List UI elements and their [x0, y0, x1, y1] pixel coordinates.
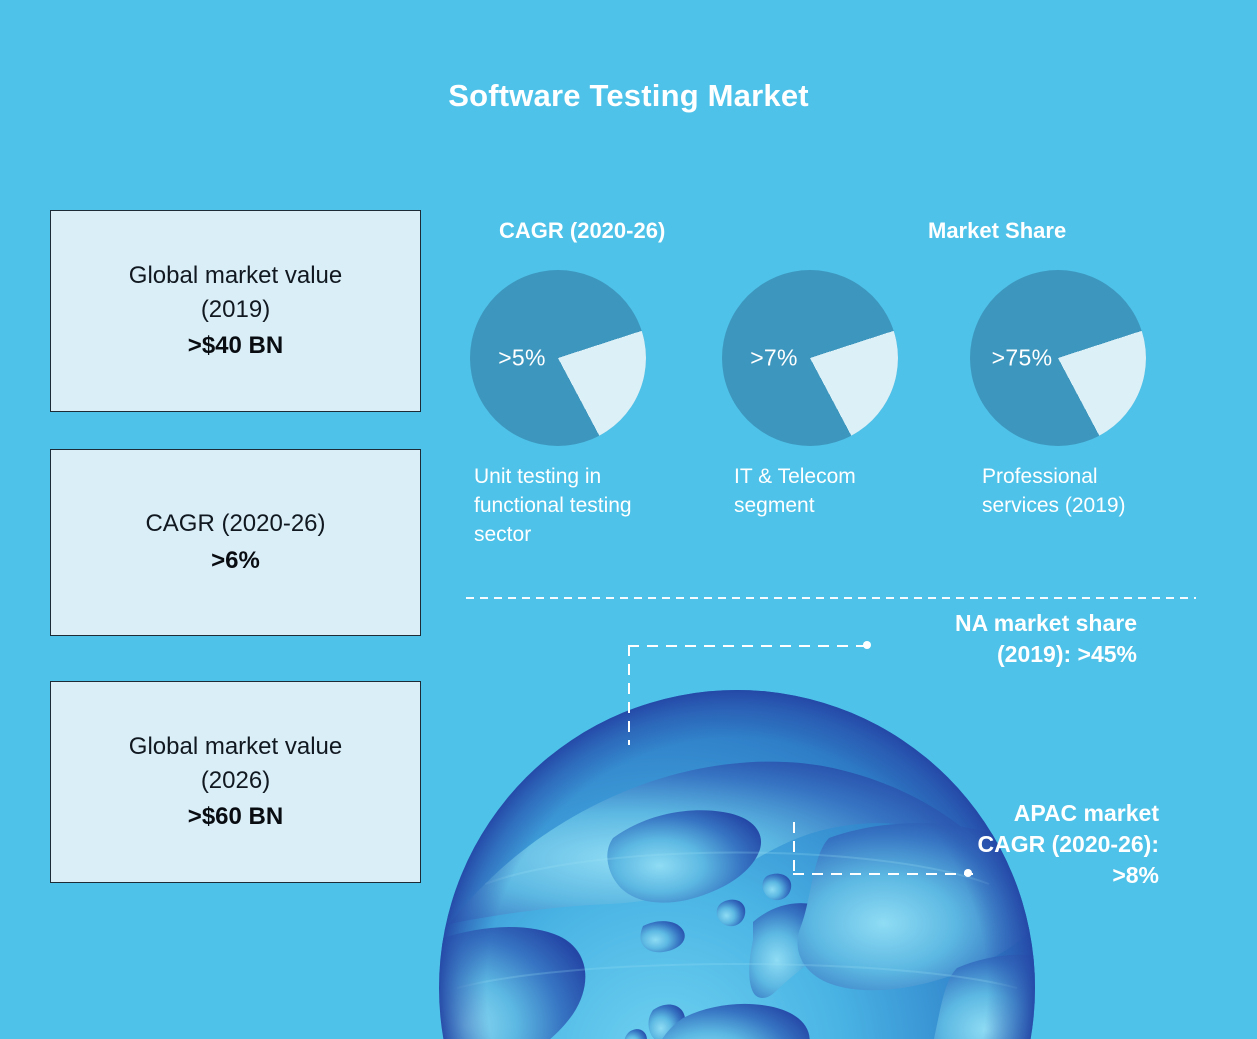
pie-chart-it-telecom: >7% [722, 270, 898, 446]
callout-na-market-share: NA market share (2019): >45% [820, 608, 1137, 670]
section-divider [466, 597, 1196, 599]
pie-caption-professional-services: Professional services (2019) [982, 463, 1198, 521]
stat-card-label: Global market value (2026) [129, 730, 342, 798]
leader-line-apac-vertical [793, 822, 795, 875]
stat-card-value: >$60 BN [188, 800, 283, 834]
stat-card-value: >$40 BN [188, 329, 283, 363]
stat-card-value: >6% [211, 544, 260, 578]
stat-card-label: Global market value (2019) [129, 259, 342, 327]
pie-caption-unit-testing: Unit testing in functional testing secto… [474, 463, 706, 550]
stat-card-cagr-2020-26: CAGR (2020-26) >6% [50, 449, 421, 636]
pie-data-label: >7% [722, 345, 826, 372]
section-header-market-share: Market Share [928, 218, 1066, 244]
pie-data-label: >75% [970, 345, 1074, 372]
page-title: Software Testing Market [0, 78, 1257, 114]
pie-data-label: >5% [470, 345, 574, 372]
pie-chart-unit-testing: >5% [470, 270, 646, 446]
stat-card-label: CAGR (2020-26) [145, 507, 325, 541]
pie-caption-it-telecom: IT & Telecom segment [734, 463, 934, 521]
callout-apac-market-cagr: APAC market CAGR (2020-26): >8% [820, 798, 1159, 891]
section-header-cagr: CAGR (2020-26) [499, 218, 665, 244]
pie-chart-professional-services: >75% [970, 270, 1146, 446]
stat-card-global-market-value-2019: Global market value (2019) >$40 BN [50, 210, 421, 412]
leader-line-na-vertical [628, 645, 630, 745]
stat-card-global-market-value-2026: Global market value (2026) >$60 BN [50, 681, 421, 883]
infographic-canvas: Software Testing Market Global market va… [0, 0, 1257, 1039]
